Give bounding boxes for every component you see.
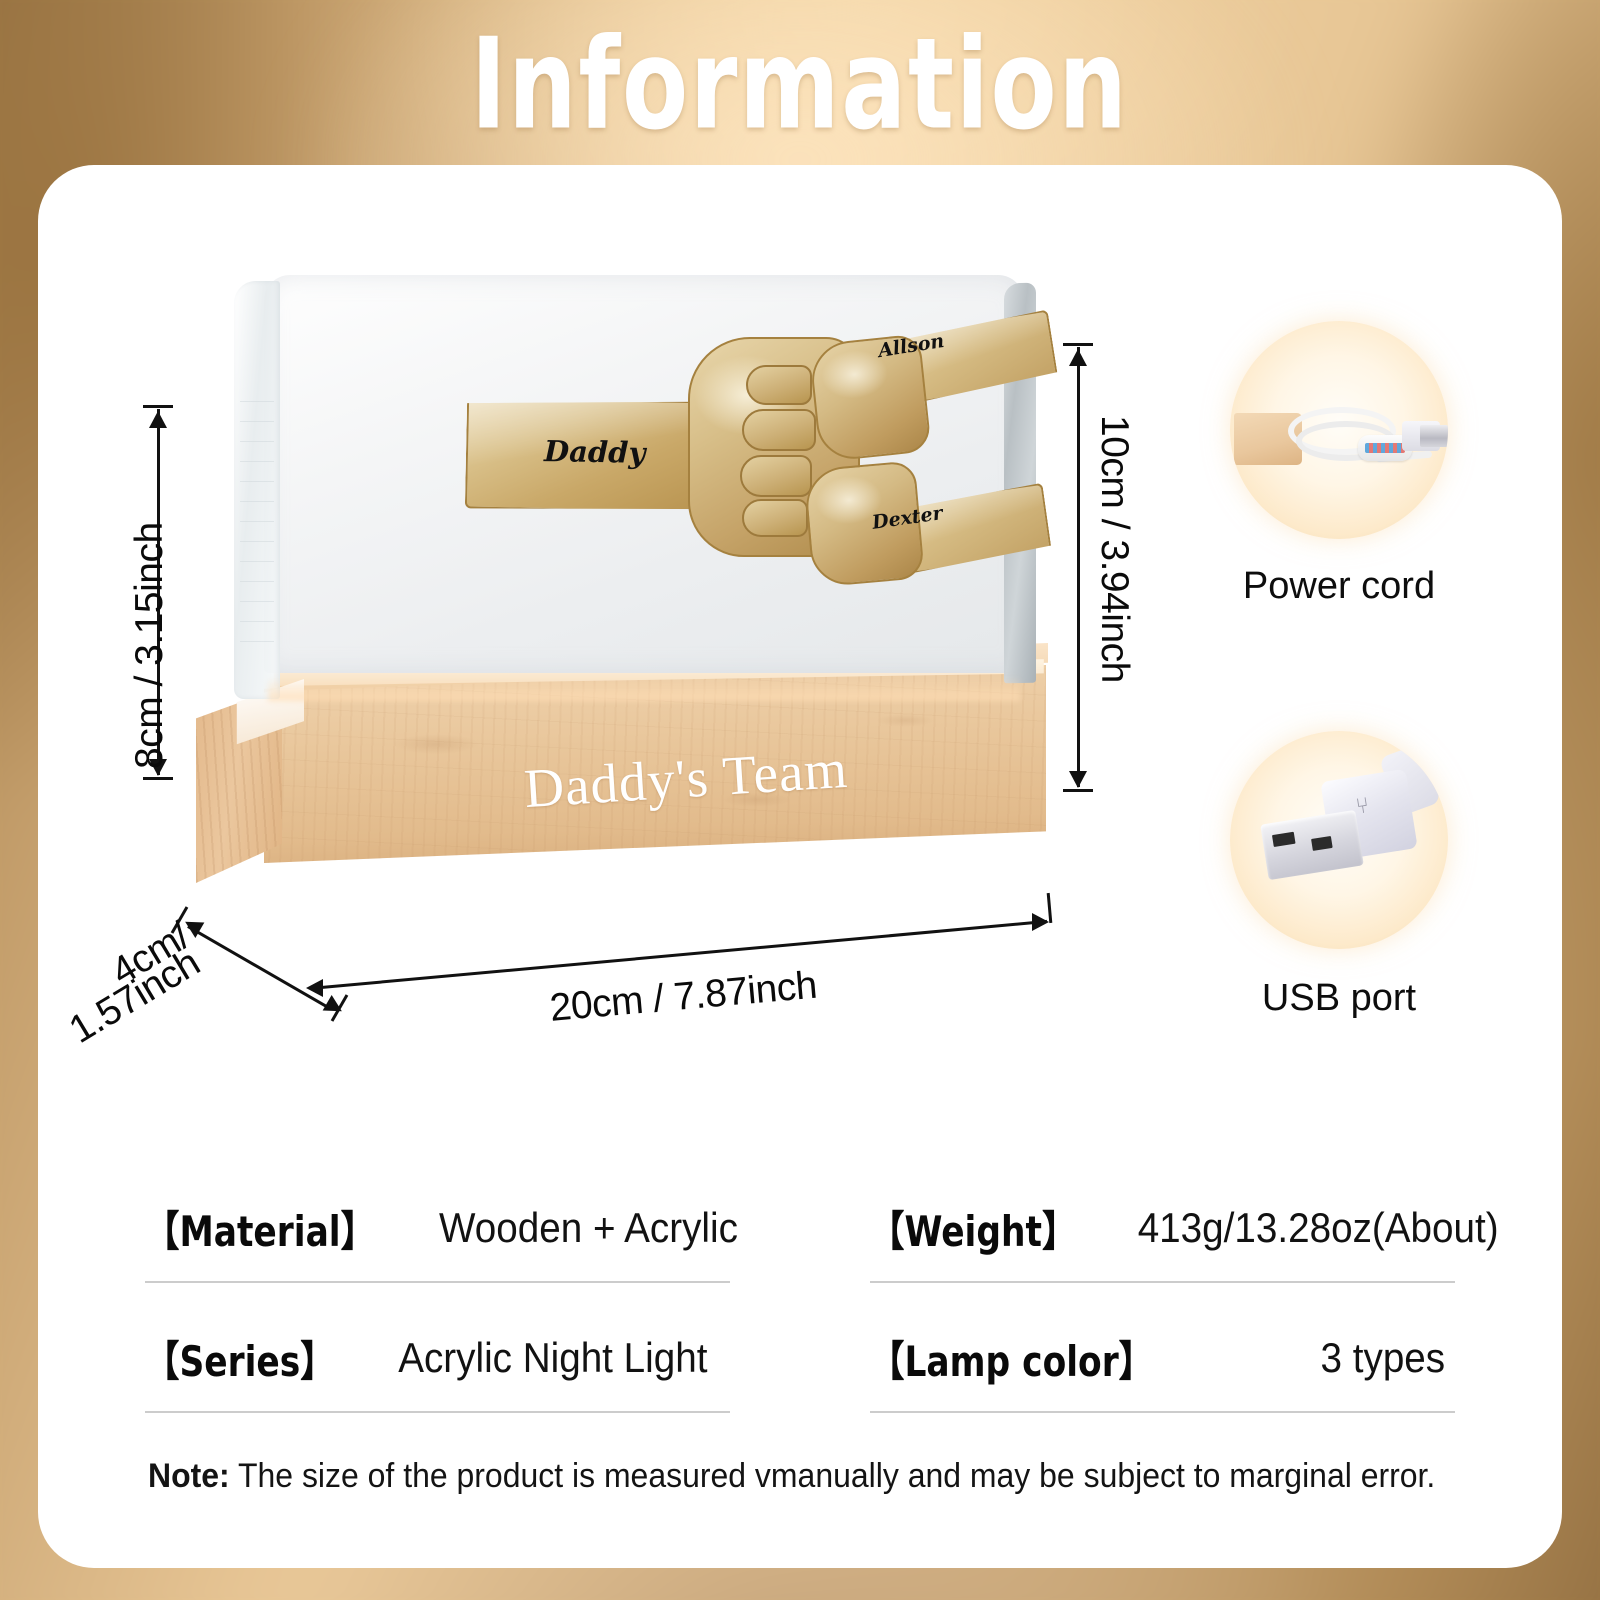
spec-key-lamp-color: 【Lamp color】 [870,1328,1153,1389]
note-body: The size of the product is measured vman… [238,1457,1435,1495]
spec-cell-weight: 【Weight】 413g/13.28oz(About) [870,1175,1455,1281]
knuckle [740,455,812,497]
dimension-text-width: 20cm / 7.87inch [548,964,819,1031]
name-label-parent: Daddy [544,434,646,470]
power-cord-label: Power cord [1179,565,1499,608]
acrylic-left-edge [234,281,280,699]
specification-table: 【Material】 Wooden + Acrylic 【Weight】 413… [38,1175,1562,1435]
spec-cell-lamp-color: 【Lamp color】 3 types [870,1305,1455,1411]
product-illustration: Daddy's Team [38,165,1562,1125]
spec-value-material: Wooden + Acrylic [439,1204,738,1252]
spec-row: 【Series】 Acrylic Night Light 【Lamp color… [38,1305,1562,1435]
divider [145,1411,730,1413]
product-info-graphic: Information Daddy's Team [0,0,1600,1600]
content-card: Daddy's Team [38,165,1562,1568]
spec-key-weight: 【Weight】 [870,1198,1076,1259]
dimension-text-panel-height: 8cm / 3.15inch [128,522,172,769]
power-cord-badge [1230,321,1448,539]
page-title: Information [471,22,1129,147]
divider [870,1281,1455,1283]
usb-port-label: USB port [1179,977,1499,1020]
spec-value-series: Acrylic Night Light [390,1334,715,1382]
note-text: Note: The size of the product is measure… [148,1457,1389,1496]
spec-value-weight: 413g/13.28oz(About) [1137,1204,1498,1252]
spec-row: 【Material】 Wooden + Acrylic 【Weight】 413… [38,1175,1562,1305]
dimension-text-total-height: 10cm / 3.94inch [1092,415,1136,683]
usb-metal-connector-icon [1260,810,1364,880]
spec-key-series: 【Series】 [145,1328,335,1389]
spec-cell-series: 【Series】 Acrylic Night Light [145,1305,730,1411]
usb-port-badge: ⑂ [1230,731,1448,949]
knuckle [746,365,812,405]
usb-metal-shell-icon [1420,425,1448,447]
acrylic-bottom-glow [268,677,1020,701]
divider [145,1281,730,1283]
fist-bump-artwork: Daddy Allson Dexter [466,317,1026,585]
knuckle [742,409,816,451]
spec-key-material: 【Material】 [145,1198,375,1259]
header: Information [0,0,1600,170]
spec-value-lamp-color: 3 types [1225,1334,1446,1382]
acrylic-panel: Daddy Allson Dexter [234,275,1054,695]
divider [870,1411,1455,1413]
knuckle [742,499,808,537]
spec-cell-material: 【Material】 Wooden + Acrylic [145,1175,730,1281]
note-prefix: Note: [148,1457,230,1495]
